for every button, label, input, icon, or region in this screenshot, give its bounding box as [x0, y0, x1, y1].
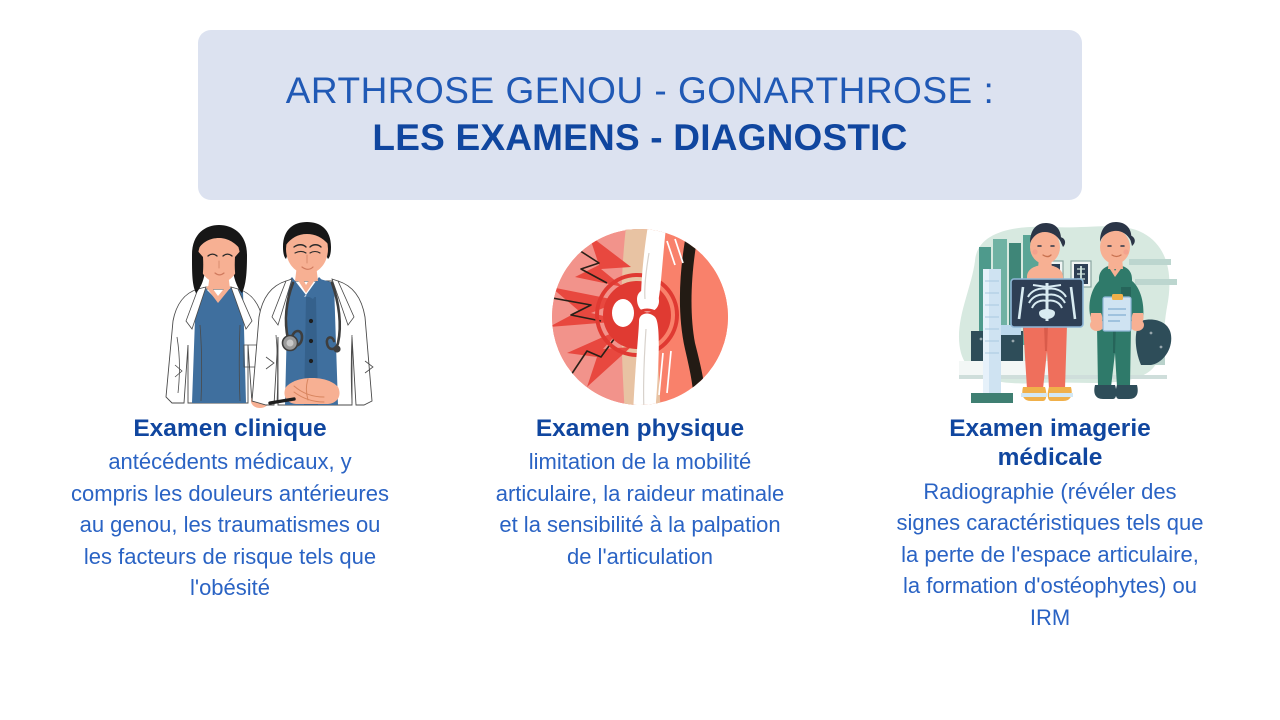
page-title-primary: ARTHROSE GENOU - GONARTHROSE : — [286, 70, 995, 113]
title-banner: ARTHROSE GENOU - GONARTHROSE : LES EXAME… — [198, 30, 1082, 200]
column-examen-imagerie: Examen imagerie médicale Radiographie (r… — [845, 225, 1255, 633]
column-examen-physique: Examen physique limitation de la mobilit… — [435, 225, 845, 572]
column-examen-clinique: Examen clinique antécédents médicaux, y … — [25, 225, 435, 604]
knee-joint-pain-illustration — [545, 225, 735, 410]
two-doctors-illustration — [80, 225, 380, 410]
column-body-2: limitation de la mobilité articulaire, l… — [490, 446, 790, 572]
xray-imaging-illustration — [915, 225, 1185, 410]
column-heading-2: Examen physique — [536, 414, 744, 443]
column-heading-3: Examen imagerie médicale — [905, 414, 1195, 473]
column-body-1: antécédents médicaux, y compris les doul… — [70, 446, 390, 603]
column-heading-1: Examen clinique — [133, 414, 326, 443]
infographic-slide: ARTHROSE GENOU - GONARTHROSE : LES EXAME… — [0, 0, 1280, 720]
illustration-wrap-1 — [25, 225, 435, 410]
illustration-wrap-2 — [435, 225, 845, 410]
page-title-secondary: LES EXAMENS - DIAGNOSTIC — [372, 117, 907, 160]
columns-container: Examen clinique antécédents médicaux, y … — [0, 225, 1280, 633]
illustration-wrap-3 — [845, 225, 1255, 410]
column-body-3: Radiographie (révéler des signes caracté… — [894, 476, 1206, 633]
